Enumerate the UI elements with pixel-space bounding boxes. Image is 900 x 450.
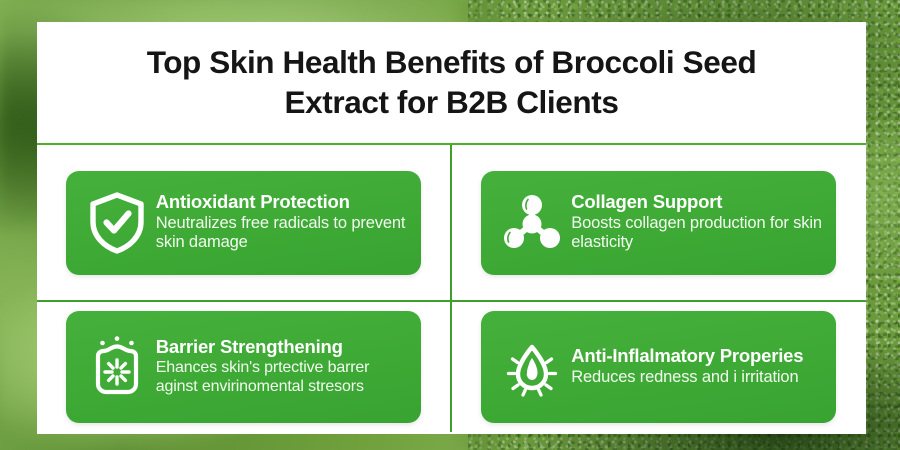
benefit-title: Barrier Strengthening <box>156 337 409 358</box>
grid-cell-collagen-support: Collagen Support Boosts collagen product… <box>452 145 867 302</box>
benefits-grid: Antioxidant Protection Neutralizes free … <box>37 145 866 432</box>
droplet-rays-icon <box>495 330 569 404</box>
benefit-title: Collagen Support <box>571 192 824 213</box>
grid-cell-antioxidant-protection: Antioxidant Protection Neutralizes free … <box>37 145 452 302</box>
header-section: Top Skin Health Benefits of Broccoli See… <box>37 22 866 145</box>
benefit-card-anti-inflammatory[interactable]: Anti-Inflalmatory Properies Reduces redn… <box>481 311 836 423</box>
molecule-icon <box>495 186 569 260</box>
benefit-card-antioxidant-protection[interactable]: Antioxidant Protection Neutralizes free … <box>66 171 421 275</box>
grid-cell-anti-inflammatory: Anti-Inflalmatory Properies Reduces redn… <box>452 302 867 432</box>
grid-cell-barrier-strengthening: Barrier Strengthening Ehances skin's prt… <box>37 302 452 432</box>
benefit-description: Reduces redness and i irritation <box>571 368 824 387</box>
benefit-title: Anti-Inflalmatory Properies <box>571 346 824 367</box>
page-title: Top Skin Health Benefits of Broccoli See… <box>107 43 797 122</box>
benefit-card-barrier-strengthening[interactable]: Barrier Strengthening Ehances skin's prt… <box>66 311 421 423</box>
benefit-card-text: Antioxidant Protection Neutralizes free … <box>154 192 409 252</box>
benefit-card-text: Barrier Strengthening Ehances skin's prt… <box>154 337 409 396</box>
benefit-card-collagen-support[interactable]: Collagen Support Boosts collagen product… <box>481 171 836 275</box>
benefit-card-text: Anti-Inflalmatory Properies Reduces redn… <box>569 346 824 387</box>
shield-check-icon <box>80 186 154 260</box>
benefit-card-text: Collagen Support Boosts collagen product… <box>569 192 824 252</box>
benefit-description: Neutralizes free radicals to prevent ski… <box>156 214 409 253</box>
benefit-description: Boosts collagen production for skin elas… <box>571 214 824 253</box>
infographic-panel: Top Skin Health Benefits of Broccoli See… <box>37 22 866 434</box>
benefit-title: Antioxidant Protection <box>156 192 409 213</box>
benefit-description: Ehances skin's prtective barrer aginst e… <box>156 359 409 396</box>
barrier-shield-burst-icon <box>80 330 154 404</box>
